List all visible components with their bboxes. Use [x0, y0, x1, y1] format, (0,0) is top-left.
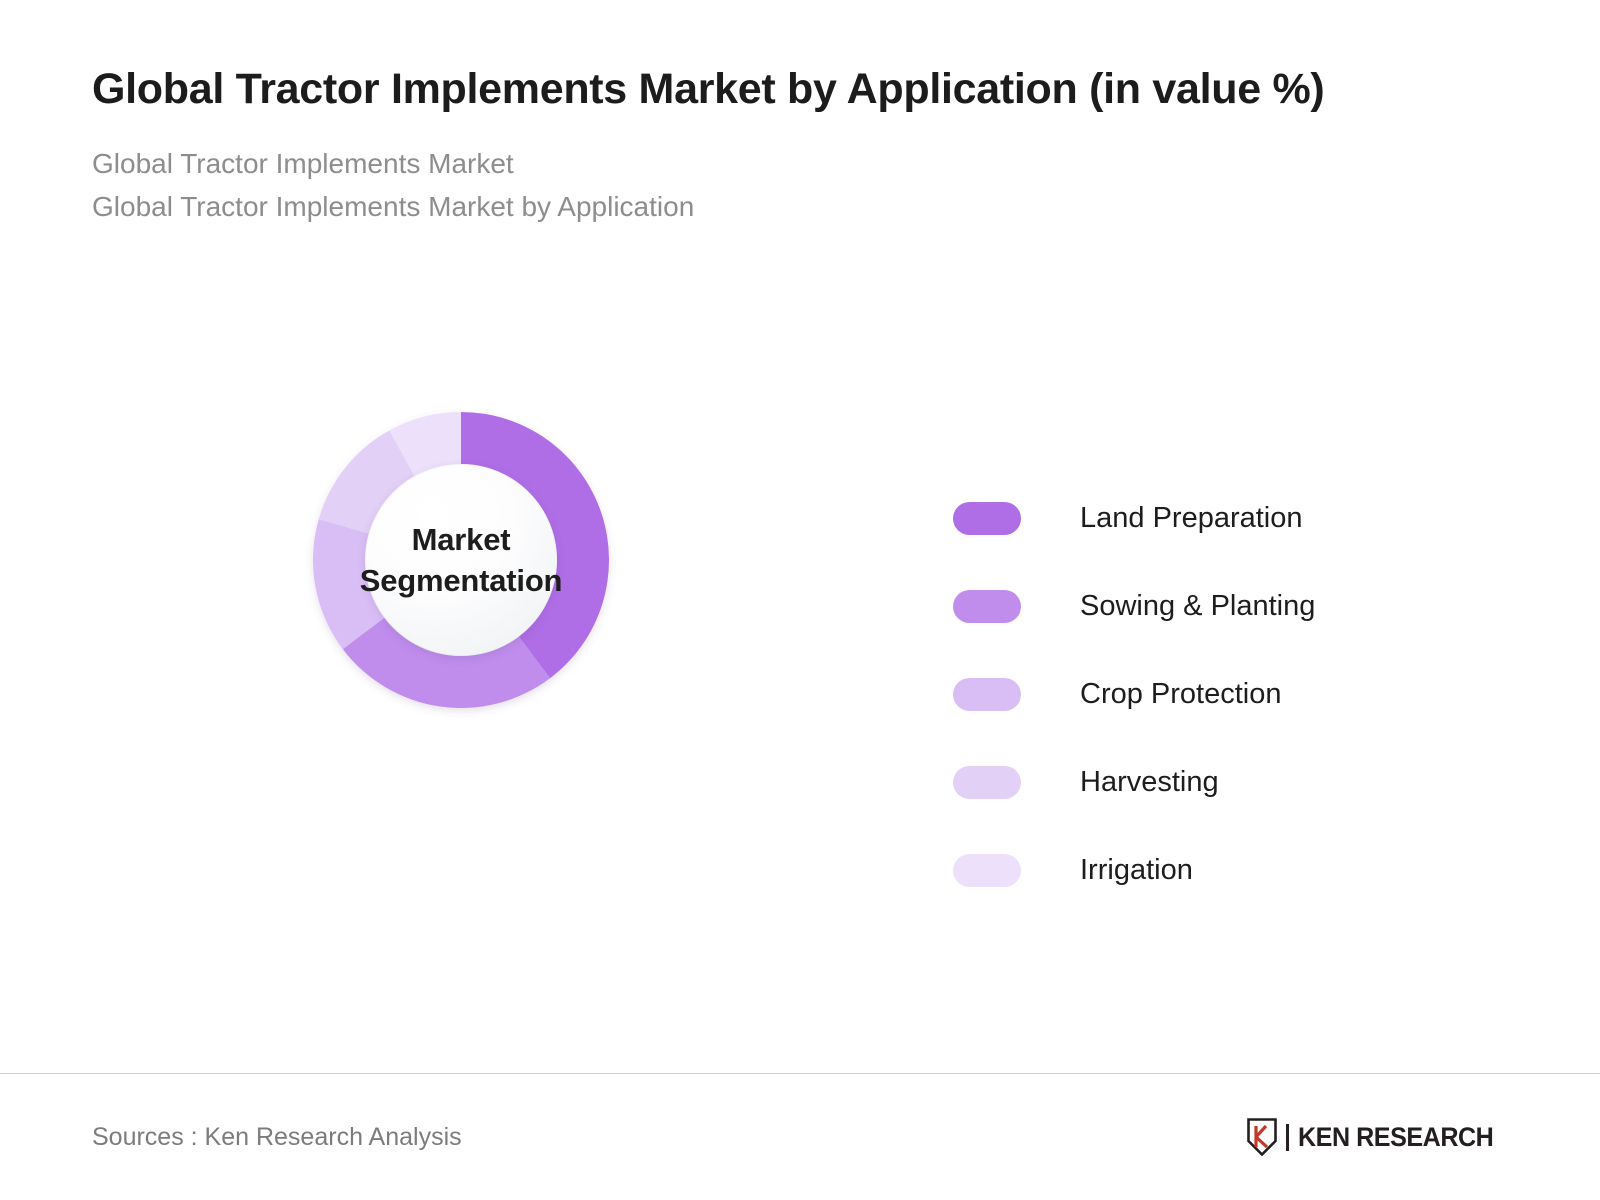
donut-center-label: Market Segmentation — [366, 465, 556, 655]
legend-label: Irrigation — [1080, 856, 1193, 885]
legend-swatch — [953, 766, 1021, 799]
brand-divider — [1286, 1124, 1289, 1151]
donut-chart: Market Segmentation — [311, 410, 611, 710]
legend-label: Sowing & Planting — [1080, 592, 1315, 621]
legend-swatch — [953, 590, 1021, 623]
legend-label: Harvesting — [1080, 768, 1219, 797]
legend-item[interactable]: Harvesting — [953, 738, 1513, 826]
page-title: Global Tractor Implements Market by Appl… — [92, 62, 1482, 117]
legend-item[interactable]: Land Preparation — [953, 474, 1513, 562]
legend-label: Land Preparation — [1080, 504, 1303, 533]
brand-logo: KEN RESEARCH — [1247, 1118, 1508, 1156]
subtitle-segment: Global Tractor Implements Market by Appl… — [92, 186, 1492, 229]
subtitle-block: Global Tractor Implements Market Global … — [92, 143, 1492, 228]
legend-item[interactable]: Crop Protection — [953, 650, 1513, 738]
legend-swatch — [953, 502, 1021, 535]
chart-area: Market Segmentation Land PreparationSowi… — [0, 392, 1600, 1032]
subtitle-market: Global Tractor Implements Market — [92, 143, 1492, 186]
chart-legend: Land PreparationSowing & PlantingCrop Pr… — [953, 474, 1513, 914]
donut-center-line-1: Market — [412, 519, 511, 560]
header: Global Tractor Implements Market by Appl… — [92, 62, 1492, 228]
shield-k-icon — [1247, 1118, 1277, 1156]
legend-swatch — [953, 854, 1021, 887]
brand-name: KEN RESEARCH — [1298, 1122, 1493, 1153]
legend-swatch — [953, 678, 1021, 711]
donut-center-line-2: Segmentation — [360, 560, 563, 601]
legend-item[interactable]: Irrigation — [953, 826, 1513, 914]
source-note: Sources : Ken Research Analysis — [92, 1123, 462, 1152]
slide-canvas: Global Tractor Implements Market by Appl… — [0, 0, 1600, 1200]
footer: Sources : Ken Research Analysis KEN RESE… — [0, 1074, 1600, 1200]
legend-item[interactable]: Sowing & Planting — [953, 562, 1513, 650]
legend-label: Crop Protection — [1080, 680, 1282, 709]
